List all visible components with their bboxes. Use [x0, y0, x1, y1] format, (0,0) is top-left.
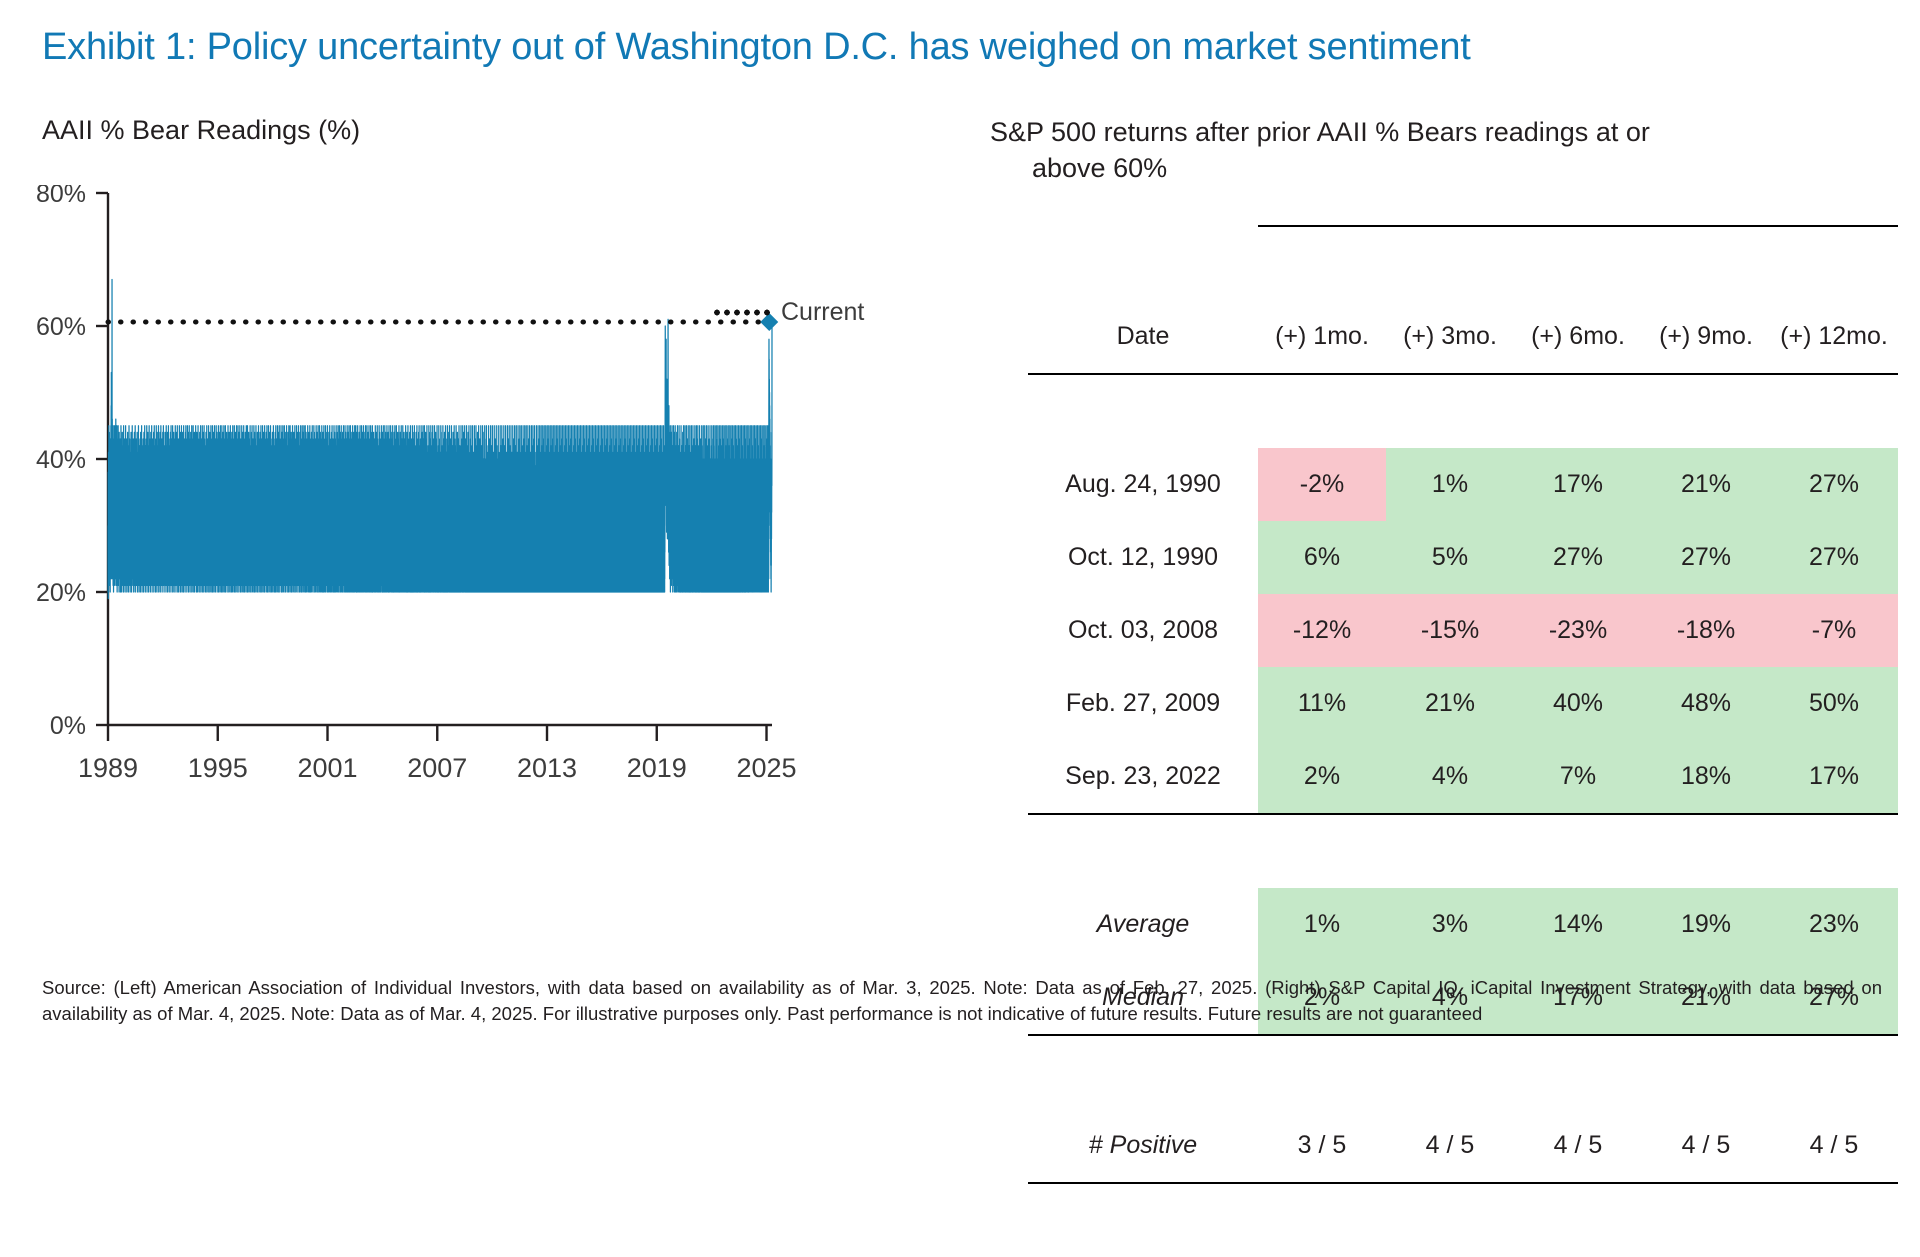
table-cell-count: 4 / 5 — [1386, 1109, 1514, 1183]
table-cell-date: Feb. 27, 2009 — [1028, 667, 1258, 740]
y-axis-tick-label: 0% — [50, 712, 86, 740]
rule-line — [1028, 1183, 1258, 1257]
table-cell-return: -12% — [1258, 594, 1386, 667]
column-header-3: (+) 6mo. — [1514, 300, 1642, 374]
rule-line — [1258, 1183, 1386, 1257]
page-title: Exhibit 1: Policy uncertainty out of Was… — [42, 26, 1892, 69]
table-cell-return: 3% — [1386, 888, 1514, 961]
y-axis-tick-label: 80% — [36, 185, 86, 208]
right-table-subtitle: S&P 500 returns after prior AAII % Bears… — [990, 115, 1850, 186]
table-cell-return: -18% — [1642, 594, 1770, 667]
table-row: Feb. 27, 200911%21%40%48%50% — [1028, 667, 1898, 740]
returns-table-container: Date(+) 1mo.(+) 3mo.(+) 6mo.(+) 9mo.(+) … — [1028, 225, 1898, 1257]
table-summary-rule — [1028, 814, 1898, 888]
table-cell-return: 14% — [1514, 888, 1642, 961]
rule-line — [1642, 814, 1770, 888]
column-header-2: (+) 3mo. — [1386, 300, 1514, 374]
source-note: Source: (Left) American Association of I… — [42, 975, 1882, 1028]
y-axis-tick-label: 60% — [36, 313, 86, 341]
rule-line — [1770, 1035, 1898, 1109]
table-row: Oct. 03, 2008-12%-15%-23%-18%-7% — [1028, 594, 1898, 667]
rule-line — [1514, 1183, 1642, 1257]
table-top-rule — [1028, 226, 1898, 300]
table-positive-row: # Positive3 / 54 / 54 / 54 / 54 / 5 — [1028, 1109, 1898, 1183]
table-cell-return: 27% — [1770, 521, 1898, 594]
table-cell-return: 21% — [1642, 448, 1770, 521]
table-cell-return: 7% — [1514, 740, 1642, 814]
table-cell-return: 17% — [1770, 740, 1898, 814]
table-cell-return: -23% — [1514, 594, 1642, 667]
table-positive-rule — [1028, 1035, 1898, 1109]
rule-line — [1642, 1035, 1770, 1109]
table-cell-return: 27% — [1642, 521, 1770, 594]
column-header-5: (+) 12mo. — [1770, 300, 1898, 374]
table-cell-return: -7% — [1770, 594, 1898, 667]
table-cell-return: -15% — [1386, 594, 1514, 667]
table-header-row: Date(+) 1mo.(+) 3mo.(+) 6mo.(+) 9mo.(+) … — [1028, 300, 1898, 374]
rule-line — [1028, 1035, 1258, 1109]
right-table-subtitle-line1: S&P 500 returns after prior AAII % Bears… — [990, 117, 1650, 147]
table-cell-count: 3 / 5 — [1258, 1109, 1386, 1183]
x-axis-ticks — [108, 725, 767, 741]
table-cell-return: 27% — [1770, 448, 1898, 521]
rule-spacer — [1028, 226, 1258, 300]
aaii-bears-series — [108, 279, 772, 598]
current-legend-label: Current — [781, 298, 864, 327]
column-header-date: Date — [1028, 300, 1258, 374]
table-cell-stat-label: Average — [1028, 888, 1258, 961]
table-cell-return: 48% — [1642, 667, 1770, 740]
table-cell-return: 40% — [1514, 667, 1642, 740]
table-cell-return: 1% — [1386, 448, 1514, 521]
x-axis-tick-label: 2001 — [297, 753, 357, 783]
x-axis-tick-label: 1989 — [78, 753, 138, 783]
table-row: Oct. 12, 19906%5%27%27%27% — [1028, 521, 1898, 594]
table-cell-return: 27% — [1514, 521, 1642, 594]
y-axis-labels: 0%20%40%60%80% — [36, 185, 86, 740]
rule-line — [1258, 374, 1386, 448]
table-cell-count: 4 / 5 — [1514, 1109, 1642, 1183]
table-cell-return: 21% — [1386, 667, 1514, 740]
table-cell-date: Oct. 03, 2008 — [1028, 594, 1258, 667]
table-header-rule — [1028, 374, 1898, 448]
x-axis-tick-label: 2013 — [517, 753, 577, 783]
left-chart-subtitle: AAII % Bear Readings (%) — [42, 115, 742, 146]
rule-line — [1028, 374, 1258, 448]
rule-line — [1514, 814, 1642, 888]
rule-line — [1770, 814, 1898, 888]
table-bottom-rule — [1028, 1183, 1898, 1257]
table-cell-return: -2% — [1258, 448, 1386, 521]
current-legend-dotted-swatch — [712, 309, 772, 316]
rule-line — [1514, 374, 1642, 448]
rule-line — [1258, 814, 1386, 888]
table-cell-return: 17% — [1514, 448, 1642, 521]
chart-legend: Current — [712, 298, 864, 327]
table-cell-count: 4 / 5 — [1770, 1109, 1898, 1183]
rule-line — [1770, 1183, 1898, 1257]
rule-line — [1386, 814, 1514, 888]
x-axis-tick-label: 2025 — [736, 753, 796, 783]
rule-line — [1642, 374, 1770, 448]
table-cell-stat-label: # Positive — [1028, 1109, 1258, 1183]
table-cell-return: 1% — [1258, 888, 1386, 961]
rule-line — [1028, 814, 1258, 888]
x-axis-tick-label: 1995 — [188, 753, 248, 783]
table-cell-return: 11% — [1258, 667, 1386, 740]
rule-line — [1386, 1183, 1514, 1257]
table-cell-return: 6% — [1258, 521, 1386, 594]
rule-line — [1258, 1035, 1386, 1109]
y-axis-tick-label: 20% — [36, 579, 86, 607]
column-header-4: (+) 9mo. — [1642, 300, 1770, 374]
table-cell-date: Aug. 24, 1990 — [1028, 448, 1258, 521]
sp500-returns-table: Date(+) 1mo.(+) 3mo.(+) 6mo.(+) 9mo.(+) … — [1028, 225, 1898, 1257]
table-cell-date: Oct. 12, 1990 — [1028, 521, 1258, 594]
x-axis-tick-label: 2007 — [407, 753, 467, 783]
x-axis-tick-label: 2019 — [627, 753, 687, 783]
table-row: Sep. 23, 20222%4%7%18%17% — [1028, 740, 1898, 814]
table-cell-return: 18% — [1642, 740, 1770, 814]
y-axis-ticks — [96, 193, 108, 725]
table-cell-return: 5% — [1386, 521, 1514, 594]
table-cell-count: 4 / 5 — [1642, 1109, 1770, 1183]
table-cell-return: 50% — [1770, 667, 1898, 740]
y-axis-tick-label: 40% — [36, 446, 86, 474]
rule-line — [1386, 1035, 1514, 1109]
table-cell-return: 4% — [1386, 740, 1514, 814]
table-summary-row: Average1%3%14%19%23% — [1028, 888, 1898, 961]
chart-series-group — [108, 279, 772, 598]
rule-line — [1258, 226, 1898, 300]
rule-line — [1514, 1035, 1642, 1109]
rule-line — [1386, 374, 1514, 448]
right-table-subtitle-line2: above 60% — [1032, 151, 1850, 187]
table-cell-return: 2% — [1258, 740, 1386, 814]
table-cell-date: Sep. 23, 2022 — [1028, 740, 1258, 814]
column-header-1: (+) 1mo. — [1258, 300, 1386, 374]
table-cell-return: 19% — [1642, 888, 1770, 961]
table-cell-return: 23% — [1770, 888, 1898, 961]
table-row: Aug. 24, 1990-2%1%17%21%27% — [1028, 448, 1898, 521]
x-axis-labels: 1989199520012007201320192025 — [78, 753, 797, 783]
rule-line — [1770, 374, 1898, 448]
rule-line — [1642, 1183, 1770, 1257]
